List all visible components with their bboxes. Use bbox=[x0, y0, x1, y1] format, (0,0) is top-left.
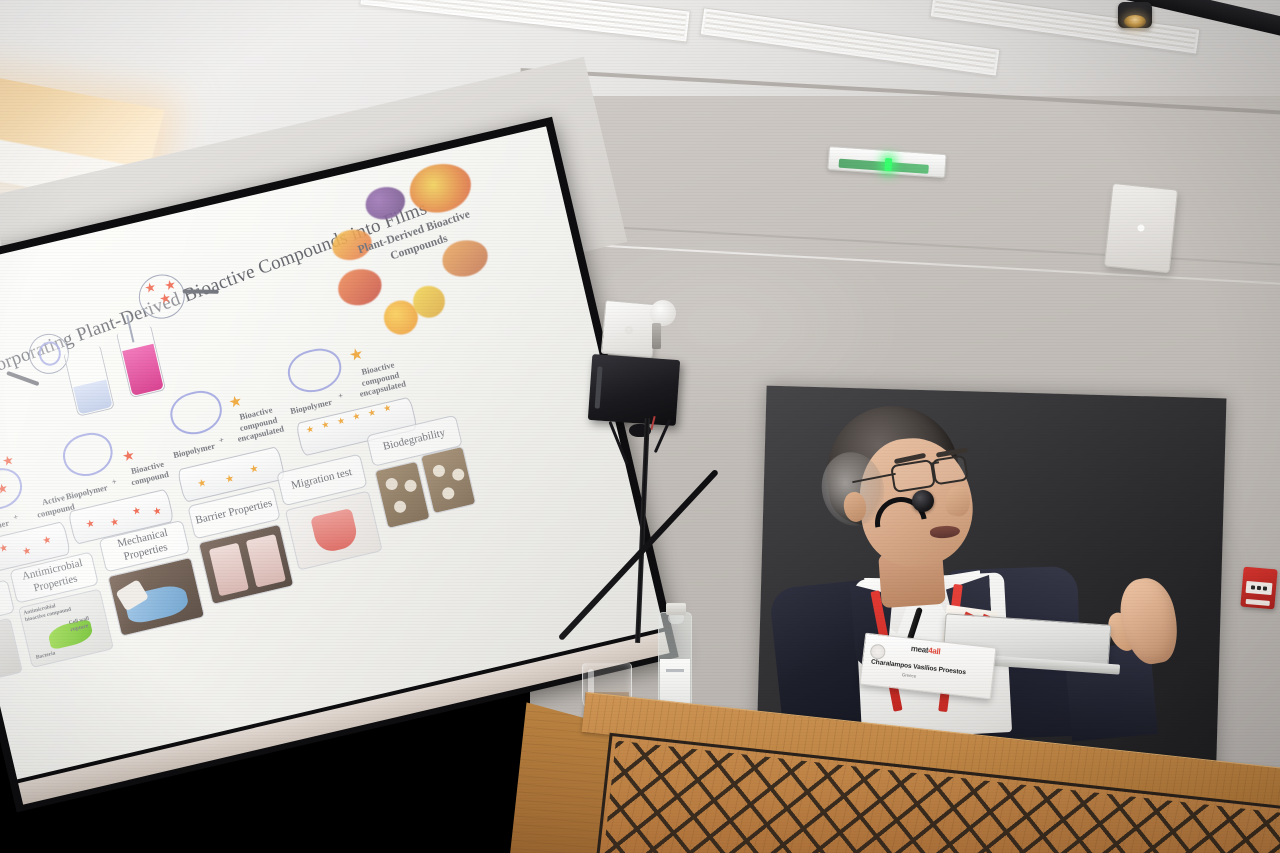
plus-sign: + bbox=[12, 511, 19, 522]
institution-seal-icon bbox=[869, 643, 886, 660]
beaker-icon bbox=[116, 326, 166, 398]
active-star-icon: ★ bbox=[1, 453, 15, 468]
speaker-name-text: Charalampos Vasilios Proestos bbox=[871, 659, 989, 679]
presenter bbox=[770, 400, 1240, 730]
encapsulated-star-icon: ★ bbox=[348, 346, 366, 365]
test-photo-biodegrability-b bbox=[420, 446, 477, 514]
presentation-slide: Incorporating Plant-Derived Bioactive Co… bbox=[0, 126, 664, 779]
fruit-papaya-icon bbox=[334, 265, 385, 310]
plus-sign: + bbox=[218, 434, 225, 445]
biopolymer-label: Biopolymer bbox=[289, 397, 333, 417]
beaker-icon bbox=[63, 346, 115, 417]
test-photo-barrier bbox=[198, 524, 294, 605]
microphone-capsule-icon bbox=[912, 490, 934, 512]
white-wall-speaker bbox=[601, 300, 658, 358]
speaker-affiliation-text: Greece bbox=[902, 672, 917, 679]
test-photo-biodegrability-a bbox=[374, 461, 431, 529]
magnifier-handle-icon bbox=[6, 371, 39, 386]
plus-sign: + bbox=[337, 390, 344, 401]
biopolymer-label: Biopolymer bbox=[65, 482, 109, 502]
black-speaker bbox=[588, 354, 680, 426]
meat4all-logo: meat4all bbox=[910, 644, 940, 656]
plus-sign: + bbox=[111, 476, 118, 487]
conference-room-scene: Incorporating Plant-Derived Bioactive Co… bbox=[0, 0, 1280, 853]
biopolymer-coil-icon bbox=[166, 386, 226, 439]
wall-mount-bracket bbox=[652, 323, 661, 349]
bioactive-star-icon: ★ bbox=[121, 447, 136, 463]
encapsulated-star-icon: ★ bbox=[227, 393, 244, 411]
biopolymer-coil-icon bbox=[59, 428, 117, 480]
fire-alarm-call-point[interactable] bbox=[1240, 567, 1277, 610]
biopolymer-coil-icon bbox=[284, 344, 346, 397]
eyeglasses-lens bbox=[931, 455, 969, 486]
beaker-liquid bbox=[122, 344, 164, 396]
white-wall-speaker bbox=[1104, 183, 1178, 273]
test-photo-antioxidant bbox=[0, 618, 23, 689]
magnifier-handle-icon bbox=[183, 289, 219, 294]
projection-screen: Incorporating Plant-Derived Bioactive Co… bbox=[0, 126, 664, 779]
biopolymer-label: Biopolymer bbox=[172, 441, 216, 461]
spotlight-icon bbox=[1118, 2, 1152, 28]
exit-led-indicator bbox=[884, 158, 892, 171]
beaker-liquid bbox=[73, 379, 112, 414]
